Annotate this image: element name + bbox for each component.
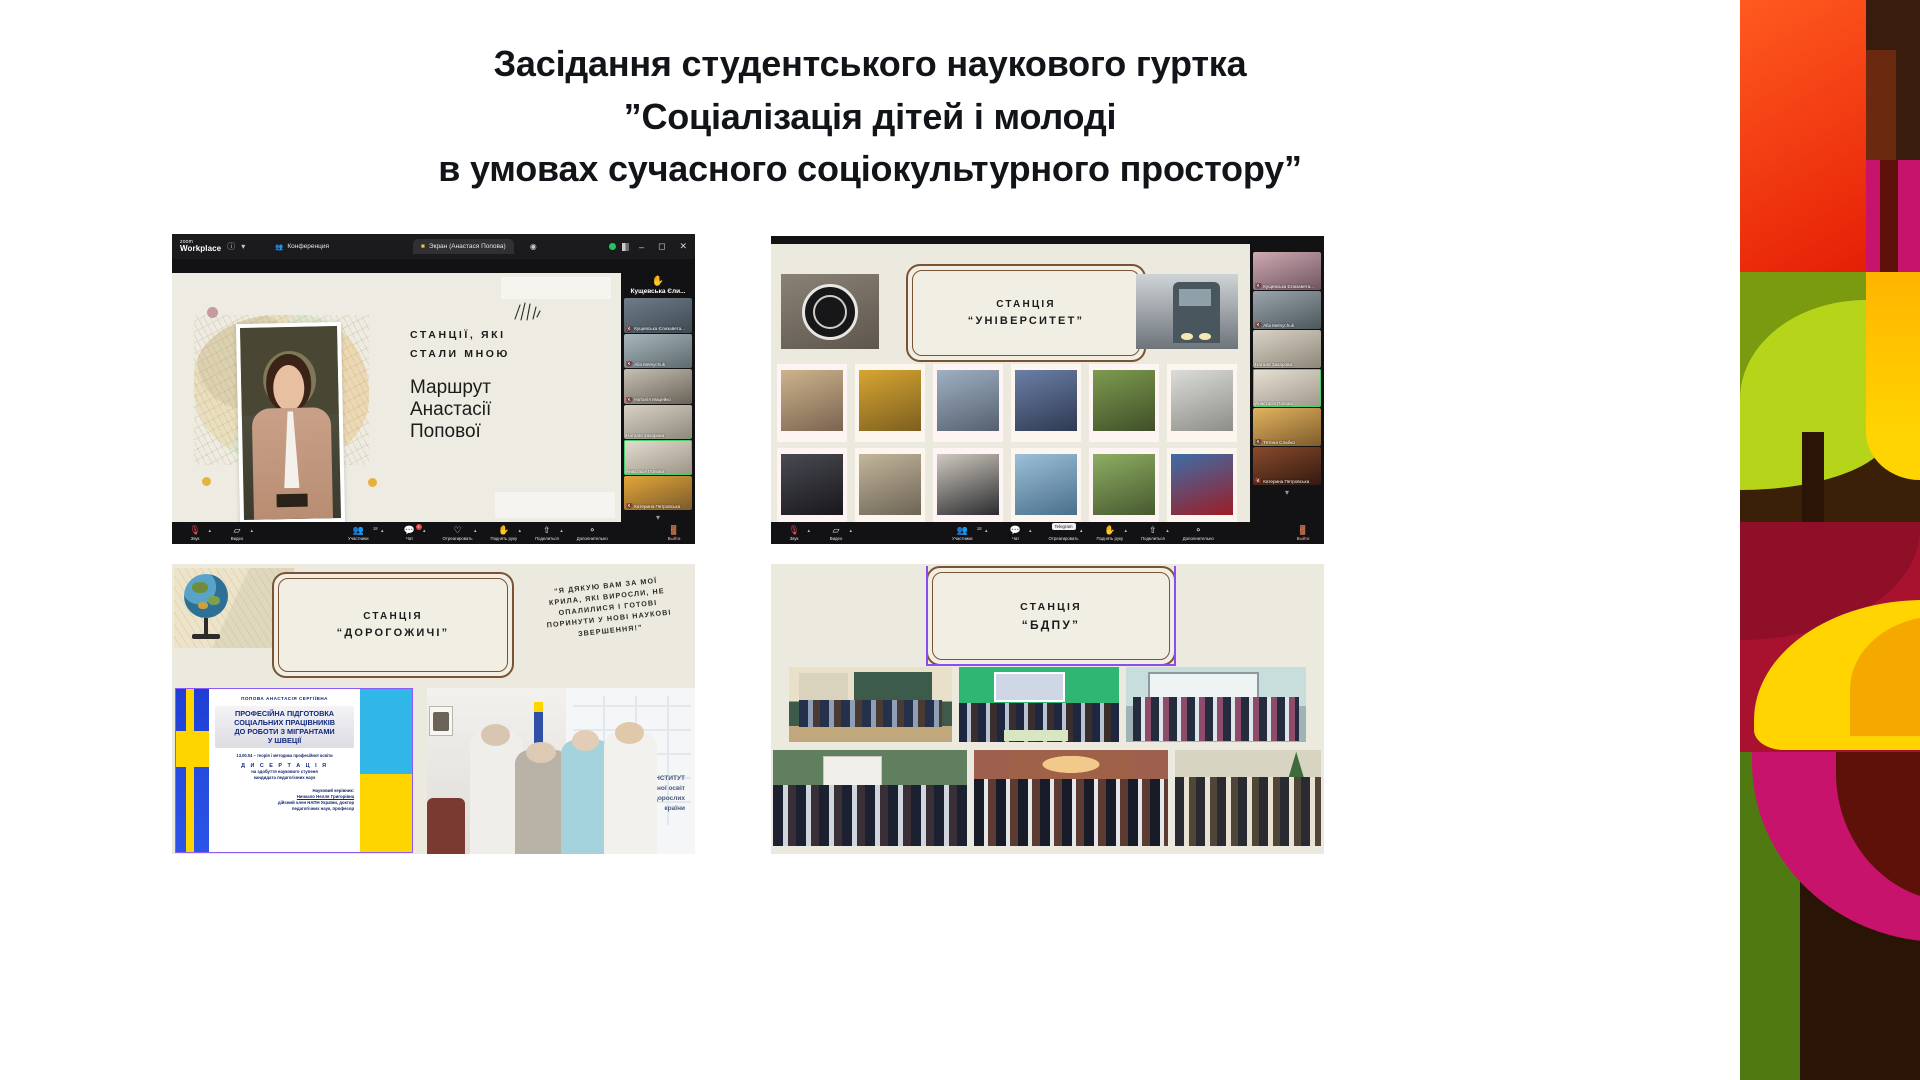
- dot-accent-3: [368, 478, 377, 487]
- mic-muted-icon: 🔇: [1255, 478, 1261, 484]
- leave-icon: 🚪: [1297, 525, 1308, 536]
- participant-tile[interactable]: 🔇 Тетяна Слабко: [1253, 408, 1321, 446]
- participant-tile[interactable]: 🔇 Наталія Мацейко: [624, 369, 692, 404]
- video-label: Видео: [231, 536, 244, 542]
- zoom-window-1[interactable]: zoom Workplace ⓘ ▾ 👥 Конференция ■ Экран…: [172, 234, 695, 544]
- scrapbook-photo: [855, 448, 925, 522]
- zoom-toolbar-1[interactable]: 🎙 Звук ▴ ▱ Видео ▴ 👥 18 Участники ▴ 💬 9 …: [172, 522, 695, 544]
- dot-accent: [207, 307, 218, 318]
- participants-button[interactable]: 👥 18 Участники ▴: [346, 525, 371, 542]
- scrapbook-photo: [1167, 448, 1237, 522]
- participants-label: Участники: [952, 536, 973, 542]
- tab-conference[interactable]: 👥 Конференция: [267, 239, 337, 255]
- zoom-logo-small: zoom: [180, 240, 221, 245]
- participant-name: Анастасія Попова: [626, 469, 690, 474]
- participant-label: Наталя Захарова: [1255, 362, 1292, 367]
- title-line-3: в умовах сучасного соціокультурного прос…: [0, 143, 1740, 196]
- participant-name: Наталія Захарова: [626, 433, 690, 438]
- student-group-photo: [789, 667, 952, 742]
- participant-tile[interactable]: Наталя Захарова: [1253, 330, 1321, 368]
- deco-shape-brown-3: [1896, 50, 1920, 160]
- flag-right-decor: [360, 689, 412, 852]
- chat-label: Чат: [406, 536, 413, 542]
- chevron-down-icon[interactable]: ▾: [1285, 488, 1289, 497]
- shared-screen-1: СТАНЦІЇ, ЯКІ СТАЛИ МНОЮ Маршрут Анастасі…: [172, 273, 621, 522]
- participant-label: Тетяна Слабко: [1263, 440, 1295, 445]
- raise-hand-label: Поднять руку: [491, 536, 518, 542]
- presentation-slide-university: СТАНЦІЯ “УНІВЕРСИТЕТ”: [771, 244, 1250, 522]
- scrapbook-photo: [933, 448, 1003, 522]
- layout-view-icon[interactable]: [622, 243, 629, 251]
- station-title-line-2: “УНІВЕРСИТЕТ”: [968, 315, 1084, 327]
- mic-muted-icon: 🔇: [1255, 439, 1261, 445]
- participant-tile[interactable]: Наталія Захарова: [624, 405, 692, 440]
- chevron-up-icon[interactable]: ▴: [474, 528, 477, 534]
- station-title-frame: СТАНЦІЯ “БДПУ”: [926, 566, 1176, 666]
- participant-tile[interactable]: 🔇 Катерина Петровська: [624, 476, 692, 511]
- more-button[interactable]: ⚬ Дополнительно: [1181, 525, 1216, 542]
- presentation-slide-stations: СТАНЦІЇ, ЯКІ СТАЛИ МНОЮ Маршрут Анастасі…: [172, 273, 621, 522]
- deco-shape-yellow-1: [1866, 272, 1920, 432]
- chevron-down-icon[interactable]: ▾: [241, 242, 245, 251]
- info-icon[interactable]: ⓘ: [227, 241, 235, 252]
- more-horizontal-icon[interactable]: ◉: [530, 242, 537, 251]
- chevron-up-icon[interactable]: ▴: [381, 528, 384, 534]
- participant-label: Alla Melnychuk: [1263, 323, 1294, 328]
- mic-muted-icon: 🔇: [1255, 283, 1261, 289]
- zoom-window-2[interactable]: СТАНЦІЯ “УНІВЕРСИТЕТ”: [771, 236, 1324, 544]
- station-title-line-2: “ДОРОГОЖИЧІ”: [337, 627, 450, 639]
- audio-button[interactable]: 🎙 Звук ▴: [186, 525, 204, 542]
- station-title-frame: СТАНЦІЯ “ДОРОГОЖИЧІ”: [272, 572, 514, 678]
- participant-label: Наталія Мацейко: [634, 397, 671, 402]
- closing-quote: “Я ДЯКУЮ ВАМ ЗА МОЇ КРИЛА, ЯКІ ВИРОСЛИ, …: [526, 572, 691, 644]
- participant-label: Наталія Захарова: [626, 433, 664, 438]
- scrapbook-photo: [1011, 364, 1081, 442]
- chat-bubble-icon: 💬: [1010, 525, 1021, 536]
- chevron-up-icon[interactable]: ▴: [519, 528, 522, 534]
- react-button[interactable]: Telegram ♡ Отреагировать ▴: [1047, 525, 1081, 542]
- chevron-up-icon[interactable]: ▴: [1080, 528, 1083, 534]
- chat-label: Чат: [1012, 536, 1019, 542]
- supervisor-rank-2: педагогічних наук, професор: [215, 806, 354, 812]
- mic-muted-icon: 🔇: [626, 397, 632, 403]
- share-screen-button[interactable]: ⇧ Поделиться ▴: [1139, 525, 1167, 542]
- chevron-down-icon[interactable]: ▾: [656, 513, 660, 522]
- participant-name: Наталя Захарова: [1255, 362, 1319, 367]
- chat-button[interactable]: 💬 9 Чат ▴: [401, 525, 419, 542]
- raise-hand-button[interactable]: ✋ Поднять руку ▴: [1095, 525, 1126, 542]
- participant-name: 🔇 Наталія Мацейко: [626, 397, 690, 403]
- share-subtitle-line-2: Анастасії: [410, 399, 491, 421]
- dissertation-poster: ПОПОВА АНАСТАСІЯ СЕРГІЇВНА ПРОФЕСІЙНА ПІ…: [175, 688, 413, 853]
- participant-tile[interactable]: 🔇 Катерина Петровська: [1253, 447, 1321, 485]
- tab-screen-share-label: Экран (Анастася Попова): [429, 243, 506, 250]
- leave-label: Выйти: [1297, 536, 1310, 542]
- chevron-up-icon[interactable]: ▴: [807, 528, 810, 534]
- audio-button[interactable]: 🎙 Звук ▴: [785, 525, 803, 542]
- scrapbook-photo: [1167, 364, 1237, 442]
- dissertation-title-line-2: СОЦІАЛЬНИХ ПРАЦІВНИКІВ: [217, 718, 352, 727]
- share-screen-icon: ⇧: [1149, 525, 1157, 536]
- flag-left-decor: [176, 689, 209, 852]
- participants-icon: 👥: [957, 525, 968, 536]
- chevron-up-icon[interactable]: ▴: [985, 528, 988, 534]
- raised-hand-icon: ✋: [652, 277, 664, 287]
- participant-name: 🔇 Тетяна Слабко: [1255, 439, 1319, 445]
- participant-label: Alla Melnychuk: [634, 362, 665, 367]
- active-speaker-name: Кущевська Єли...: [631, 288, 686, 295]
- university-seal-photo: [781, 274, 879, 349]
- paper-accent-2: [495, 492, 615, 518]
- microphone-muted-icon: 🎙: [788, 525, 799, 536]
- participant-tile[interactable]: 🔇 Кущевська Єлизавета...: [1253, 252, 1321, 290]
- participant-name: 🔇 Катерина Петровська: [1255, 478, 1319, 484]
- student-group-photo: [959, 667, 1119, 742]
- page-title: Засідання студентського наукового гуртка…: [0, 38, 1740, 196]
- mic-muted-icon: 🔇: [626, 503, 632, 509]
- share-label: Поделиться: [535, 536, 559, 542]
- microphone-muted-icon: 🎙: [189, 525, 200, 536]
- chat-unread-badge: 9: [416, 524, 422, 530]
- participant-name: 🔇 Alla Melnychuk: [626, 361, 690, 367]
- chevron-up-icon[interactable]: ▴: [208, 528, 211, 534]
- raise-hand-button[interactable]: ✋ Поднять руку ▴: [489, 525, 520, 542]
- chevron-up-icon[interactable]: ▴: [250, 528, 253, 534]
- zoom-subbar-2: [771, 236, 1324, 244]
- dot-accent-2: [202, 477, 211, 486]
- more-label: Дополнительно: [1183, 536, 1214, 542]
- react-button[interactable]: ♡ Отреагировать ▴: [441, 525, 475, 542]
- participant-label: Катерина Петровська: [634, 504, 680, 509]
- participant-tile[interactable]: 🔇 Alla Melnychuk: [624, 334, 692, 369]
- chat-button[interactable]: 💬 Чат ▴: [1007, 525, 1025, 542]
- station-title-frame: СТАНЦІЯ “УНІВЕРСИТЕТ”: [906, 264, 1146, 362]
- slide-bdpu: СТАНЦІЯ “БДПУ”: [771, 564, 1324, 854]
- scrapbook-photo: [933, 364, 1003, 442]
- purple-accent-border: [926, 566, 1176, 666]
- colorful-abstract-strip: [1740, 0, 1920, 1080]
- mic-muted-icon: 🔇: [626, 326, 632, 332]
- dissertation-title: ПРОФЕСІЙНА ПІДГОТОВКА СОЦІАЛЬНИХ ПРАЦІВН…: [215, 706, 354, 748]
- title-line-2: ”Соціалізація дітей і молоді: [0, 91, 1740, 144]
- mic-muted-icon: 🔇: [1255, 322, 1261, 328]
- participants-button[interactable]: 👥 18 Участники ▴: [950, 525, 975, 542]
- leave-icon: 🚪: [668, 525, 679, 536]
- metro-station-photo: [1136, 274, 1238, 349]
- scrapbook-photo: [1011, 448, 1081, 522]
- deco-shape-brown-1: [1866, 0, 1920, 50]
- share-screen-icon: ■: [421, 243, 425, 250]
- audio-label: Звук: [191, 536, 200, 542]
- deco-shape-red: [1740, 0, 1866, 272]
- participant-name: 🔇 Кущевська Єлизавета...: [1255, 283, 1319, 289]
- chevron-up-icon[interactable]: ▴: [1125, 528, 1128, 534]
- more-horizontal-icon: ⚬: [588, 525, 596, 536]
- student-group-photo: [773, 750, 967, 846]
- dissertation-degree-2: кандидата педагогічних наук: [215, 775, 354, 781]
- minimize-button[interactable]: –: [635, 242, 648, 252]
- participant-name: Анастасія Попова: [1255, 401, 1319, 406]
- scrapbook-photo: [777, 364, 847, 442]
- station-title-line-1: СТАНЦІЯ: [996, 299, 1056, 310]
- scrapbook-photo: [777, 448, 847, 522]
- participant-tile-active[interactable]: Анастасія Попова: [1253, 369, 1321, 407]
- participants-icon: 👥: [353, 525, 364, 536]
- chevron-up-icon[interactable]: ▴: [1029, 528, 1032, 534]
- station-title-line-2: “БДПУ”: [1022, 618, 1080, 632]
- more-horizontal-icon: ⚬: [1194, 525, 1202, 536]
- people-icon: 👥: [275, 243, 283, 251]
- station-title-line-1: СТАНЦІЯ: [363, 611, 423, 622]
- video-button[interactable]: ▱ Видео ▴: [827, 525, 845, 542]
- zoom-logo-big: Workplace: [180, 245, 221, 253]
- sunburst-icon: [511, 299, 541, 323]
- leave-button[interactable]: 🚪 Выйти: [665, 525, 683, 542]
- share-screen-icon: ⇧: [543, 525, 551, 536]
- close-button[interactable]: ✕: [675, 241, 691, 252]
- tab-conference-label: Конференция: [287, 243, 329, 250]
- zoom-body-1: СТАНЦІЇ, ЯКІ СТАЛИ МНОЮ Маршрут Анастасі…: [172, 273, 695, 522]
- camera-icon: ▱: [833, 525, 840, 536]
- zoom-toolbar-2[interactable]: 🎙 Звук ▴ ▱ Видео ▴ 👥 18 Участники ▴ 💬 Ча…: [771, 522, 1324, 544]
- paper-accent: [501, 277, 611, 299]
- participant-label: Анастасія Попова: [626, 469, 664, 474]
- raise-hand-label: Поднять руку: [1097, 536, 1124, 542]
- scrapbook-photo: [1089, 448, 1159, 522]
- react-label: Отреагировать: [1049, 536, 1079, 542]
- zoom-subbar-1: [172, 259, 695, 273]
- chevron-up-icon[interactable]: ▴: [849, 528, 852, 534]
- student-group-photo: [974, 750, 1168, 846]
- zoom-body-2: СТАНЦІЯ “УНІВЕРСИТЕТ”: [771, 244, 1324, 522]
- zoom-logo: zoom Workplace: [176, 240, 221, 253]
- share-subtitle-line-1: Маршрут: [410, 377, 491, 399]
- participant-tile-active[interactable]: Анастасія Попова: [624, 440, 692, 475]
- participant-name: 🔇 Alla Melnychuk: [1255, 322, 1319, 328]
- more-label: Дополнительно: [577, 536, 608, 542]
- network-status-dot: [609, 243, 616, 250]
- participant-name: 🔇 Катерина Петровська: [626, 503, 690, 509]
- video-label: Видео: [830, 536, 843, 542]
- share-headline-line-1: СТАНЦІЇ, ЯКІ: [410, 329, 506, 341]
- audio-label: Звук: [790, 536, 799, 542]
- dissertation-title-line-1: ПРОФЕСІЙНА ПІДГОТОВКА: [217, 709, 352, 718]
- share-headline-line-2: СТАЛИ МНОЮ: [410, 348, 510, 360]
- group-photo-at-institute: ІНСТИТУТпедагогічної освіті дорослихкраї…: [427, 688, 695, 854]
- camera-icon: ▱: [234, 525, 241, 536]
- deco-shape-brown-2: [1866, 50, 1896, 160]
- dissertation-title-line-3: ДО РОБОТИ З МІГРАНТАМИ: [217, 727, 352, 736]
- more-button[interactable]: ⚬ Дополнительно: [575, 525, 610, 542]
- shared-screen-2: СТАНЦІЯ “УНІВЕРСИТЕТ”: [771, 244, 1250, 522]
- share-label: Поделиться: [1141, 536, 1165, 542]
- participant-name: 🔇 Кущевська Єлизавета...: [626, 326, 690, 332]
- presentation-slide: Засідання студентського наукового гуртка…: [0, 0, 1920, 1080]
- participant-label: Кущевська Єлизавета...: [1263, 284, 1314, 289]
- participant-tile[interactable]: 🔇 Кущевська Єлизавета...: [624, 298, 692, 333]
- station-title-line-1: СТАНЦІЯ: [1020, 601, 1082, 613]
- share-screen-button[interactable]: ⇧ Поделиться ▴: [533, 525, 561, 542]
- react-label: Отреагировать: [443, 536, 473, 542]
- deco-shape-darkred: [1880, 160, 1898, 272]
- mic-muted-icon: 🔇: [626, 361, 632, 367]
- deco-shape-brown-5: [1802, 432, 1824, 522]
- scrapbook-photo: [855, 364, 925, 442]
- student-group-photo: [1175, 750, 1321, 846]
- dissertation-supervisor: Науковий керівник: Ничкало Нелля Григорі…: [215, 788, 354, 812]
- dissertation-title-line-4: У ШВЕЦІЇ: [217, 736, 352, 745]
- chevron-up-icon[interactable]: ▴: [1166, 528, 1169, 534]
- leave-label: Выйти: [668, 536, 681, 542]
- title-line-1: Засідання студентського наукового гуртка: [0, 38, 1740, 91]
- participants-label: Участники: [348, 536, 369, 542]
- participants-count: 18: [977, 526, 982, 531]
- participant-tile[interactable]: 🔇 Alla Melnychuk: [1253, 291, 1321, 329]
- scrapbook-photo: [1089, 364, 1159, 442]
- raise-hand-icon: ✋: [1104, 525, 1115, 536]
- share-subtitle-line-3: Попової: [410, 421, 481, 443]
- participants-count: 18: [373, 526, 378, 531]
- tab-screen-share[interactable]: ■ Экран (Анастася Попова): [413, 239, 514, 254]
- dissertation-specialty: 13.00.04 – теорія і методика професійної…: [215, 753, 354, 758]
- leave-button[interactable]: 🚪 Выйти: [1294, 525, 1312, 542]
- participant-strip-2[interactable]: 🔇 Кущевська Єлизавета... 🔇 Alla Melnychu…: [1250, 244, 1324, 522]
- participant-label: Катерина Петровська: [1263, 479, 1309, 484]
- participant-label: Анастасія Попова: [1255, 401, 1293, 406]
- participant-label: Кущевська Єлизавета...: [634, 326, 685, 331]
- maximize-button[interactable]: ◻: [654, 241, 669, 252]
- portrait-photo: [236, 322, 345, 522]
- dissertation-author: ПОПОВА АНАСТАСІЯ СЕРГІЇВНА: [215, 696, 354, 701]
- participant-strip-1[interactable]: ✋ Кущевська Єли... 🔇 Кущевська Єлизавета…: [621, 273, 695, 522]
- dissertation-text: ПОПОВА АНАСТАСІЯ СЕРГІЇВНА ПРОФЕСІЙНА ПІ…: [209, 689, 360, 852]
- slide-dorohozhychi: СТАНЦІЯ “ДОРОГОЖИЧІ” “Я ДЯКУЮ ВАМ ЗА МОЇ…: [172, 564, 695, 854]
- chevron-up-icon[interactable]: ▴: [423, 528, 426, 534]
- student-group-photo: [1126, 667, 1306, 742]
- chat-bubble-icon: 💬: [404, 525, 415, 536]
- raise-hand-icon: ✋: [498, 525, 509, 536]
- chevron-up-icon[interactable]: ▴: [560, 528, 563, 534]
- heart-icon: ♡: [453, 525, 461, 536]
- video-button[interactable]: ▱ Видео ▴: [228, 525, 246, 542]
- zoom-titlebar-1: zoom Workplace ⓘ ▾ 👥 Конференция ■ Экран…: [172, 234, 695, 259]
